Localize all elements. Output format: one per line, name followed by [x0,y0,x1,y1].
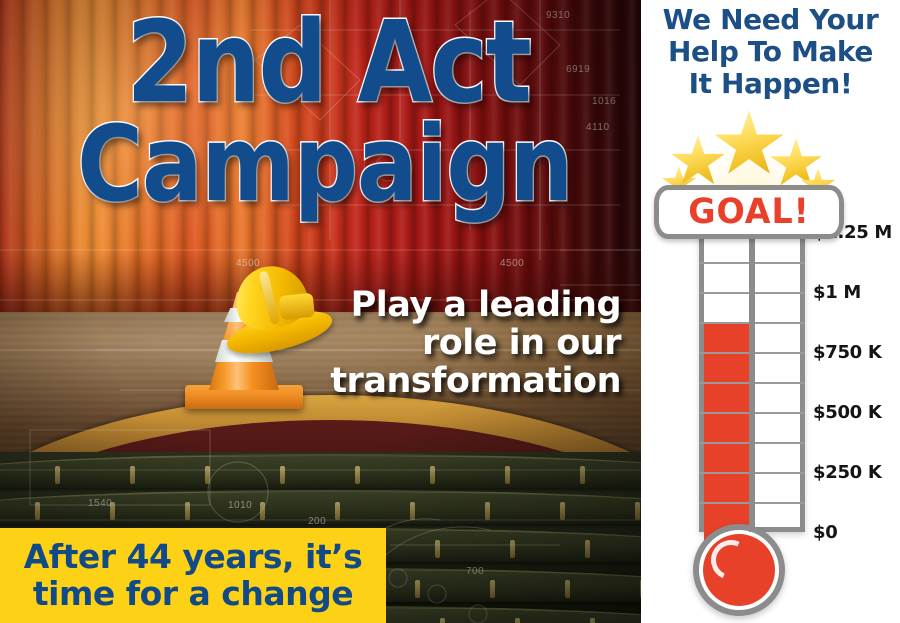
yellow-banner-line2: time for a change [33,574,353,613]
page-title: 2nd Act [45,0,596,115]
tagline-text: Play a leading role in our transformatio… [281,287,621,400]
scale-label: $500 K [813,402,882,423]
thermometer-scale-labels: $1.25 M$1 M$750 K$500 K$250 K$0 [813,0,900,623]
thermometer-center-divider [749,232,755,532]
fundraising-thermometer-panel: We Need Your Help To Make It Happen! GOA… [641,0,900,623]
scale-label: $0 [813,522,837,543]
blueprint-dimension: 4500 [500,258,524,269]
page-subtitle: Campaign [45,115,596,214]
scale-label: $1 M [813,282,861,303]
stage-artwork-panel: 1540 1010 200 4500 4500 9310 6919 1016 4… [0,0,641,623]
yellow-banner-text: After 44 years, it’s time for a change [0,539,386,613]
scale-label: $750 K [813,342,882,363]
poster-title-block: 2nd Act Campaign [0,0,641,214]
campaign-poster: 1540 1010 200 4500 4500 9310 6919 1016 4… [0,0,900,623]
blueprint-dimension: 1010 [228,500,252,511]
blueprint-dimension: 200 [308,516,326,527]
yellow-callout-banner: After 44 years, it’s time for a change [0,528,386,623]
seat-row [0,454,641,488]
goal-banner: GOAL! [654,185,844,239]
blueprint-dimension: 700 [466,566,484,577]
yellow-banner-line1: After 44 years, it’s [24,537,363,576]
scale-label: $250 K [813,462,882,483]
goal-label: GOAL! [688,192,810,232]
blueprint-dimension: 1540 [88,498,112,509]
